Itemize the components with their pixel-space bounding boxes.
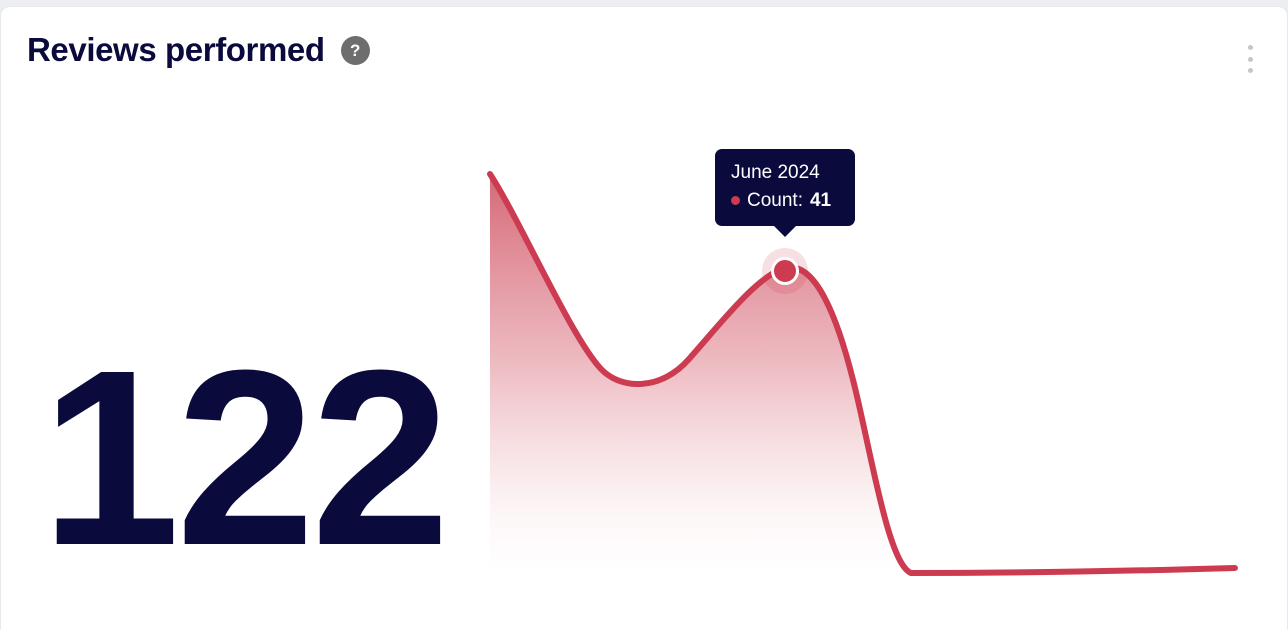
tooltip-value: 41 — [810, 188, 831, 214]
tooltip-series-label: Count: — [747, 188, 803, 214]
metric-value: 122 — [41, 333, 446, 583]
card-header: Reviews performed ? — [1, 7, 1287, 103]
tooltip-title: June 2024 — [731, 160, 839, 186]
series-dot-icon — [731, 196, 740, 205]
title-group: Reviews performed ? — [27, 33, 370, 66]
kebab-menu-icon[interactable] — [1240, 42, 1260, 76]
chart-tooltip: June 2024 Count: 41 — [715, 149, 855, 226]
kebab-dot-3 — [1248, 68, 1253, 73]
tooltip-series-row: Count: 41 — [731, 188, 839, 214]
kebab-dot-1 — [1248, 45, 1253, 50]
hover-marker-icon — [771, 257, 799, 285]
question-mark-icon[interactable]: ? — [341, 36, 370, 65]
chart-area-fill — [490, 174, 1235, 573]
chart-line — [490, 174, 1235, 573]
metric-card: Reviews performed ? 122 Ju — [0, 6, 1288, 630]
page-title: Reviews performed — [27, 33, 325, 66]
kebab-dot-2 — [1248, 57, 1253, 62]
